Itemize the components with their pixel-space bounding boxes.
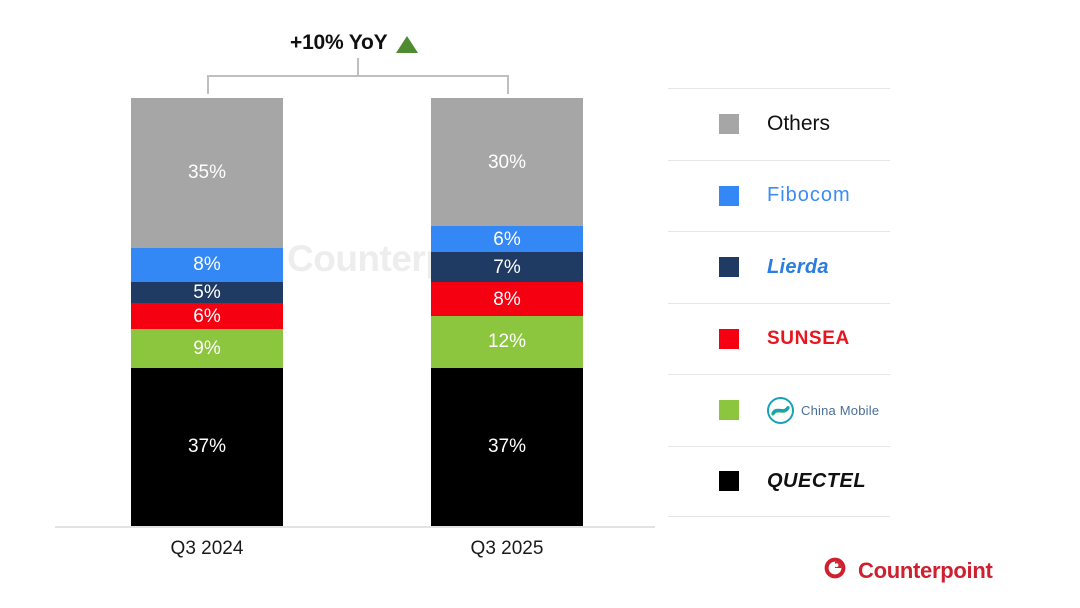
bar-segment-label: 37%	[488, 437, 526, 456]
legend-swatch	[719, 114, 739, 134]
legend-label: China Mobile	[767, 397, 879, 424]
chart-canvas: Counterpoint +10% YoY 35%8%5%6%9%37% 30%…	[0, 0, 1080, 608]
legend-row[interactable]: China Mobile	[668, 374, 890, 446]
counterpoint-mark-icon	[822, 555, 848, 586]
bar-segment-quectel: 37%	[431, 368, 583, 526]
legend-brand-name: Fibocom	[767, 184, 851, 207]
plot-area: 35%8%5%6%9%37% 30%6%7%8%12%37% Q3 2024 Q…	[0, 0, 660, 608]
bar-segment-label: 30%	[488, 153, 526, 172]
x-axis-label: Q3 2025	[407, 538, 607, 560]
legend-label: SUNSEA	[767, 328, 850, 350]
bracket-top-line	[207, 75, 509, 77]
china-mobile-logo-icon	[767, 397, 794, 424]
legend-label: Others	[767, 112, 830, 136]
bracket-stem	[357, 58, 359, 76]
bar-segment-label: 8%	[493, 290, 520, 309]
legend-row[interactable]: Lierda	[668, 231, 890, 303]
legend-brand-name: Lierda	[767, 256, 829, 279]
counterpoint-logo: Counterpoint	[822, 555, 992, 586]
bar-segment-label: 6%	[193, 307, 220, 326]
legend-brand-name: SUNSEA	[767, 328, 850, 350]
bar-segment-fibocom: 8%	[131, 248, 283, 282]
yoy-annotation: +10% YoY	[290, 31, 418, 55]
stacked-bar-q3-2025: 30%6%7%8%12%37%	[431, 98, 583, 526]
bar-segment-label: 37%	[188, 437, 226, 456]
stacked-bar-q3-2024: 35%8%5%6%9%37%	[131, 98, 283, 526]
legend-label: QUECTEL	[767, 470, 866, 493]
legend-row[interactable]: Fibocom	[668, 160, 890, 232]
axis-baseline	[55, 526, 655, 528]
bar-segment-label: 7%	[493, 258, 520, 277]
yoy-label: +10% YoY	[290, 31, 387, 55]
legend-brand-name: China Mobile	[801, 403, 879, 418]
legend-swatch	[719, 471, 739, 491]
bar-segment-others: 30%	[431, 98, 583, 226]
bar-segment-lierda: 5%	[131, 282, 283, 303]
legend-brand-name: QUECTEL	[767, 470, 866, 493]
legend: OthersFibocomLierdaSUNSEAChina MobileQUE…	[668, 88, 890, 517]
bar-segment-others: 35%	[131, 98, 283, 248]
legend-swatch	[719, 329, 739, 349]
bar-segment-china-mobile: 12%	[431, 316, 583, 367]
bar-segment-lierda: 7%	[431, 252, 583, 282]
bar-segment-sunsea: 8%	[431, 282, 583, 316]
x-axis-label: Q3 2024	[107, 538, 307, 560]
legend-swatch	[719, 186, 739, 206]
legend-swatch	[719, 257, 739, 277]
bar-segment-quectel: 37%	[131, 368, 283, 526]
bracket-leg-left	[207, 75, 209, 94]
legend-label: Lierda	[767, 256, 829, 279]
bar-segment-china-mobile: 9%	[131, 329, 283, 368]
legend-row[interactable]: SUNSEA	[668, 303, 890, 375]
bar-segment-label: 5%	[193, 283, 220, 302]
legend-label: Fibocom	[767, 184, 851, 207]
bar-segment-label: 8%	[193, 255, 220, 274]
legend-row[interactable]: Others	[668, 88, 890, 160]
bar-segment-label: 12%	[488, 332, 526, 351]
counterpoint-wordmark: Counterpoint	[858, 558, 992, 584]
bar-segment-label: 9%	[193, 339, 220, 358]
bar-segment-label: 6%	[493, 230, 520, 249]
triangle-up-icon	[396, 36, 418, 53]
legend-swatch	[719, 400, 739, 420]
bar-segment-fibocom: 6%	[431, 226, 583, 252]
bracket-leg-right	[507, 75, 509, 94]
bar-segment-sunsea: 6%	[131, 303, 283, 329]
legend-brand-name: Others	[767, 112, 830, 136]
bar-segment-label: 35%	[188, 163, 226, 182]
legend-row[interactable]: QUECTEL	[668, 446, 890, 518]
